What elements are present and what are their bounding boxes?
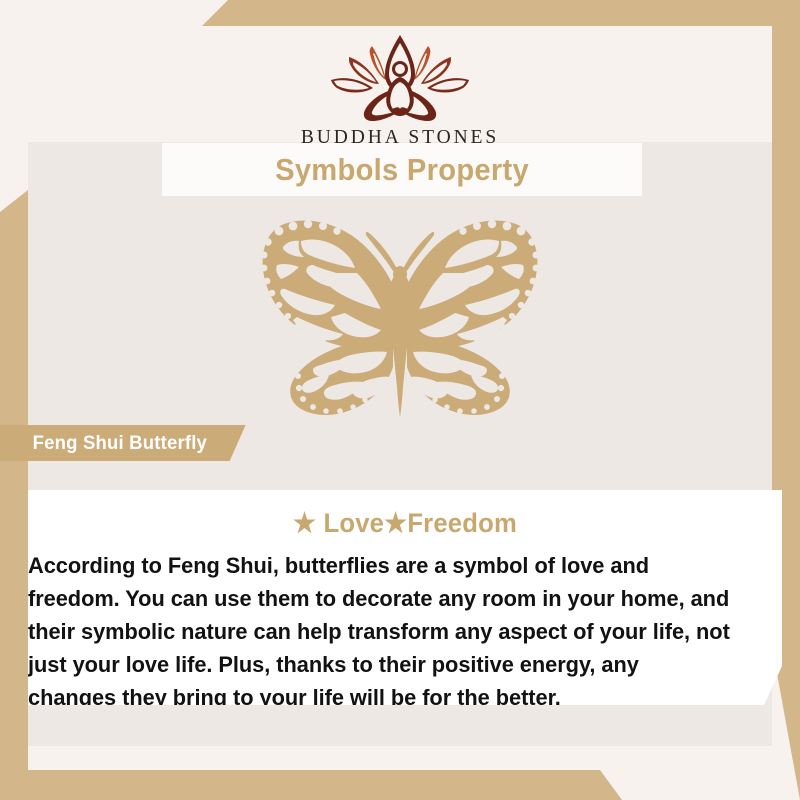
feng-shui-label-banner: Feng Shui Butterfly (0, 425, 246, 461)
brand-logo-block: BUDDHA STONES (28, 32, 772, 149)
promo-graphic-page: BUDDHA STONES Symbols Property (0, 0, 800, 800)
frame-band-top (0, 0, 800, 26)
page-title: Symbols Property (275, 152, 529, 188)
description-paragraph: According to Feng Shui, butterflies are … (28, 539, 756, 714)
artwork-area (28, 202, 772, 442)
monarch-butterfly-icon (235, 211, 565, 433)
description-card: ★ Love★Freedom According to Feng Shui, b… (28, 490, 782, 705)
frame-band-bottom (0, 770, 800, 800)
page-title-strip: Symbols Property (162, 143, 642, 196)
lotus-meditation-figure-icon (325, 32, 475, 124)
frame-band-right (772, 0, 800, 800)
feng-shui-label-text: Feng Shui Butterfly (33, 432, 207, 455)
love-freedom-subheading: ★ Love★Freedom (47, 490, 763, 539)
frame-band-left (0, 0, 28, 800)
